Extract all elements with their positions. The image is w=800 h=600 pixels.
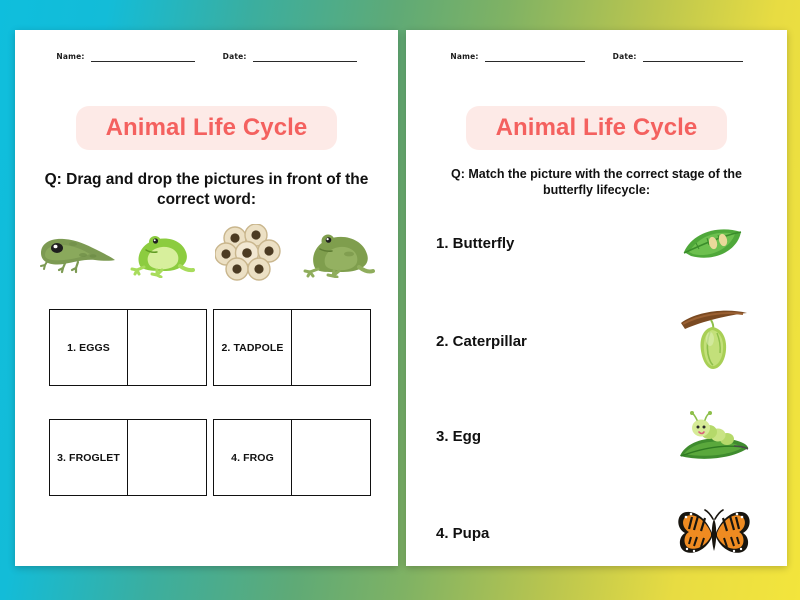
date-label: Date: — [613, 52, 637, 62]
worksheet-butterfly-life-cycle: Name: Date: Animal Life Cycle Q: Match t… — [406, 30, 787, 566]
picture-egg-on-leaf[interactable] — [668, 212, 760, 274]
name-input-line[interactable] — [91, 61, 195, 62]
match-label-2: 2. Caterpillar — [436, 333, 527, 350]
name-field-group[interactable]: Name: — [450, 52, 584, 62]
list-item[interactable]: 1. Butterfly — [406, 212, 787, 274]
match-label-1: 1. Butterfly — [436, 235, 514, 252]
date-field-group[interactable]: Date: — [223, 52, 357, 62]
date-field-group[interactable]: Date: — [613, 52, 743, 62]
picture-tadpole-with-legs[interactable] — [33, 223, 117, 283]
drop-zone-4[interactable] — [292, 420, 370, 495]
answer-box-2: 2. TADPOLE — [213, 309, 371, 386]
date-input-line[interactable] — [253, 61, 357, 62]
answer-box-grid: 1. EGGS 2. TADPOLE 3. FROGLET 4. FROG — [49, 309, 371, 496]
picture-strip — [33, 222, 380, 284]
title-container: Animal Life Cycle — [406, 106, 787, 150]
name-date-row: Name: Date: — [406, 52, 787, 62]
list-item[interactable]: 3. Egg — [406, 405, 787, 467]
page-title: Animal Life Cycle — [466, 106, 728, 150]
picture-chrysalis-pupa[interactable] — [668, 310, 760, 372]
answer-box-4: 4. FROG — [213, 419, 371, 496]
answer-word-3: 3. FROGLET — [50, 420, 128, 495]
worksheet-frog-life-cycle: Name: Date: Animal Life Cycle Q: Drag an… — [15, 30, 398, 566]
question-prompt: Q: Match the picture with the correct st… — [406, 166, 787, 198]
picture-monarch-butterfly[interactable] — [668, 502, 760, 564]
drop-zone-1[interactable] — [128, 310, 206, 385]
name-label: Name: — [56, 52, 84, 62]
title-container: Animal Life Cycle — [15, 106, 398, 150]
date-input-line[interactable] — [643, 61, 743, 62]
drop-zone-3[interactable] — [128, 420, 206, 495]
match-label-4: 4. Pupa — [436, 525, 489, 542]
answer-word-2: 2. TADPOLE — [214, 310, 292, 385]
picture-adult-frog[interactable] — [296, 223, 380, 283]
match-label-3: 3. Egg — [436, 428, 481, 445]
answer-word-4: 4. FROG — [214, 420, 292, 495]
name-input-line[interactable] — [485, 61, 585, 62]
answer-word-1: 1. EGGS — [50, 310, 128, 385]
answer-box-3: 3. FROGLET — [49, 419, 207, 496]
list-item[interactable]: 2. Caterpillar — [406, 310, 787, 372]
answer-box-1: 1. EGGS — [49, 309, 207, 386]
picture-caterpillar-on-leaf[interactable] — [668, 405, 760, 467]
question-prompt: Q: Drag and drop the pictures in front o… — [15, 170, 398, 210]
name-label: Name: — [450, 52, 478, 62]
date-label: Date: — [223, 52, 247, 62]
page-title: Animal Life Cycle — [76, 106, 338, 150]
name-date-row: Name: Date: — [15, 52, 398, 62]
name-field-group[interactable]: Name: — [56, 52, 194, 62]
drop-zone-2[interactable] — [292, 310, 370, 385]
picture-froglet[interactable] — [121, 223, 205, 283]
match-list: 1. Butterfly 2. Caterpillar — [406, 212, 787, 566]
list-item[interactable]: 4. Pupa — [406, 502, 787, 564]
picture-frog-eggs[interactable] — [208, 223, 292, 283]
